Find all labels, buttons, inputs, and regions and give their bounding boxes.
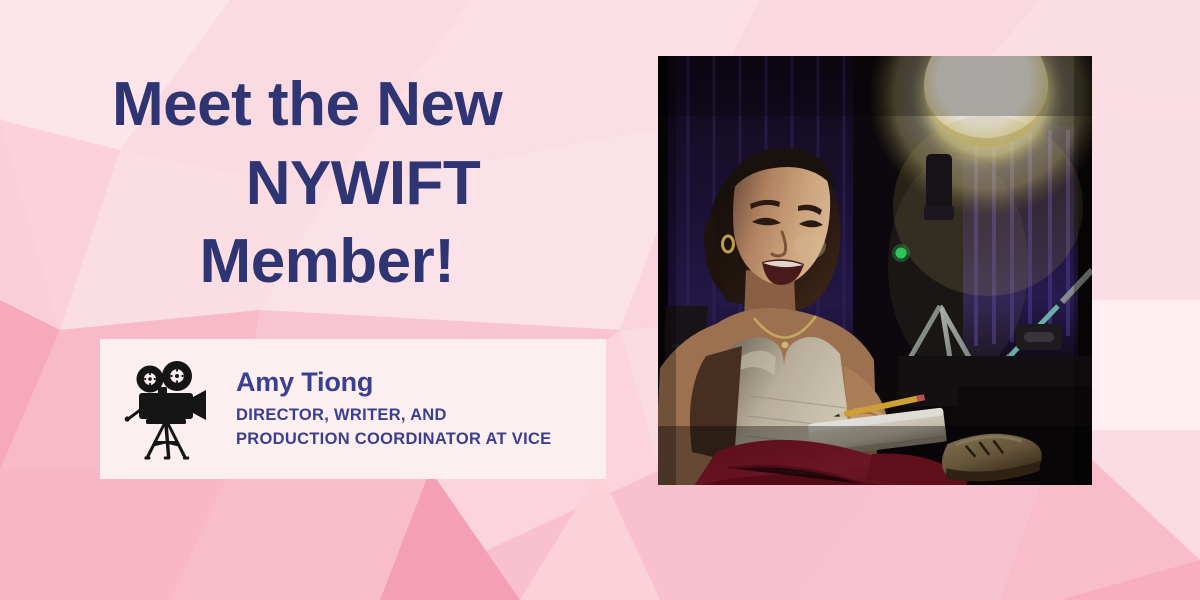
member-role-line-1: DIRECTOR, WRITER, AND bbox=[236, 403, 551, 427]
member-name: Amy Tiong bbox=[236, 367, 551, 398]
headline-line-3: Member! bbox=[112, 223, 632, 302]
nywift-member-announcement-banner: Meet the New NYWIFT Member! bbox=[0, 0, 1200, 600]
member-role-line-2: PRODUCTION COORDINATOR AT VICE bbox=[236, 427, 551, 451]
headline-line-2: NYWIFT bbox=[112, 145, 632, 224]
member-name-card: Amy Tiong DIRECTOR, WRITER, AND PRODUCTI… bbox=[100, 339, 606, 479]
member-photo-image bbox=[658, 56, 1092, 485]
member-photo bbox=[658, 56, 1092, 485]
member-details: Amy Tiong DIRECTOR, WRITER, AND PRODUCTI… bbox=[236, 367, 551, 452]
page-title: Meet the New NYWIFT Member! bbox=[112, 66, 632, 302]
headline-line-1: Meet the New bbox=[112, 66, 632, 145]
movie-camera-tripod-icon bbox=[122, 357, 218, 461]
